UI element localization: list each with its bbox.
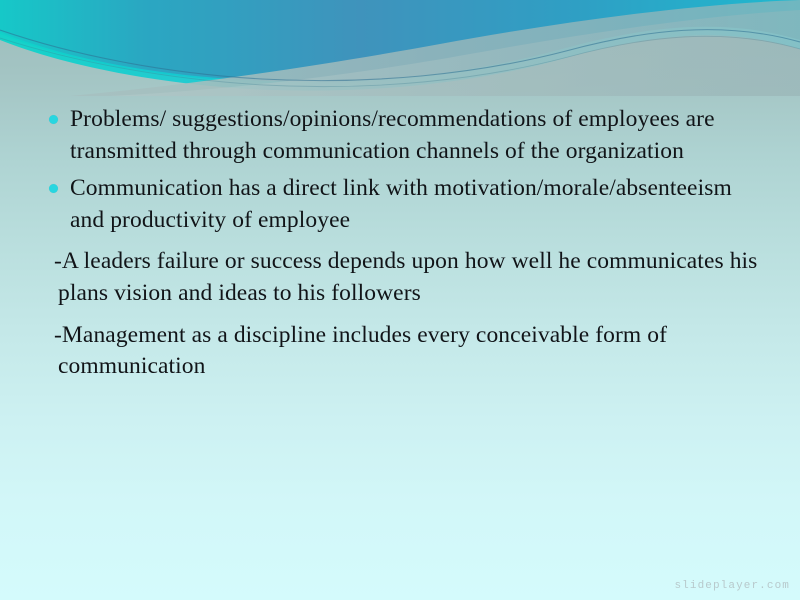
bullet-paragraph-1: Problems/ suggestions/opinions/recommend…	[46, 104, 766, 167]
dash-paragraph-1-text: -A leaders failure or success depends up…	[54, 248, 757, 306]
bullet-paragraph-2: Communication has a direct link with mot…	[46, 173, 766, 236]
header-wave-decoration	[0, 0, 800, 96]
dash-paragraph-2-text: -Management as a discipline includes eve…	[54, 322, 667, 380]
bullet-dot-icon	[49, 184, 58, 193]
presentation-slide: Problems/ suggestions/opinions/recommend…	[0, 0, 800, 600]
dash-paragraph-2: -Management as a discipline includes eve…	[46, 320, 766, 383]
slideplayer-watermark: slideplayer.com	[674, 580, 790, 592]
bullet-dot-icon	[49, 115, 58, 124]
bullet-paragraph-1-text: Problems/ suggestions/opinions/recommend…	[70, 106, 715, 164]
bullet-paragraph-2-text: Communication has a direct link with mot…	[70, 175, 732, 233]
slide-body-content: Problems/ suggestions/opinions/recommend…	[46, 104, 766, 389]
dash-paragraph-1: -A leaders failure or success depends up…	[46, 246, 766, 309]
